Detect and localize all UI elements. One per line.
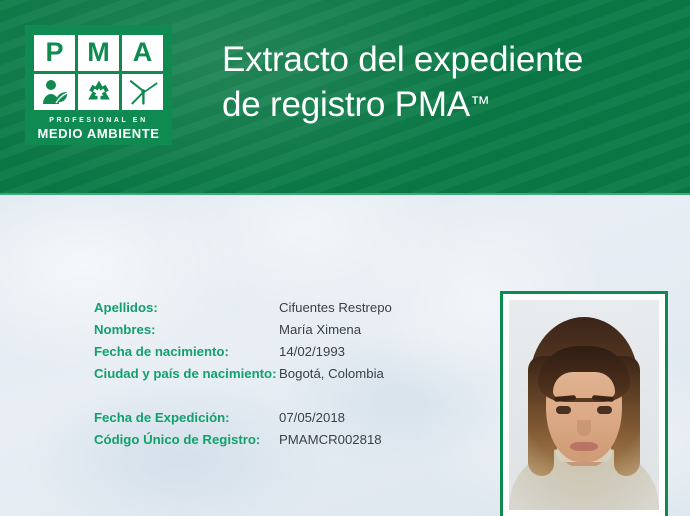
field-label-fecha-expedicion: Fecha de Expedición: [94,408,279,428]
logo-letter-p: P [34,35,75,71]
field-row-fecha-nacimiento: Fecha de nacimiento: 14/02/1993 [94,342,424,364]
logo-tile-grid: P M A [34,35,163,110]
page-title: Extracto del expediente de registro PMA™ [222,38,672,128]
field-row-apellidos: Apellidos: Cifuentes Restrepo [94,298,424,320]
portrait-hair-front [538,346,630,402]
header-banner: P M A [0,0,690,195]
logo-caption-top: PROFESIONAL EN [34,117,163,125]
pma-logo: P M A [25,25,172,145]
field-row-fecha-expedicion: Fecha de Expedición: 07/05/2018 [94,408,424,430]
page-title-line1: Extracto del expediente [222,40,583,79]
field-group-separator [94,386,424,408]
trademark-symbol: ™ [470,93,490,115]
field-row-ciudad-pais: Ciudad y país de nacimiento: Bogotá, Col… [94,364,424,386]
logo-caption: PROFESIONAL EN MEDIO AMBIENTE [34,117,163,143]
logo-letter-a: A [122,35,163,71]
portrait-photo [509,300,659,510]
portrait-eye-left [556,406,571,414]
field-value-apellidos: Cifuentes Restrepo [279,298,392,318]
field-label-apellidos: Apellidos: [94,298,279,318]
portrait-mouth [570,442,598,451]
field-label-nombres: Nombres: [94,320,279,340]
field-row-nombres: Nombres: María Ximena [94,320,424,342]
person-leaf-icon [34,74,75,110]
record-fields: Apellidos: Cifuentes Restrepo Nombres: M… [94,298,424,452]
logo-letter-m: M [78,35,119,71]
field-value-fecha-nacimiento: 14/02/1993 [279,342,345,362]
logo-caption-bottom: MEDIO AMBIENTE [34,126,163,143]
recycle-icon [78,74,119,110]
field-label-fecha-nacimiento: Fecha de nacimiento: [94,342,279,362]
field-value-fecha-expedicion: 07/05/2018 [279,408,345,428]
page-title-line2: de registro PMA [222,85,470,124]
wind-turbine-icon [122,74,163,110]
field-label-ciudad-pais: Ciudad y país de nacimiento: [94,364,279,384]
field-row-codigo-registro: Código Único de Registro: PMAMCR002818 [94,430,424,452]
registry-extract-card: P M A [0,0,690,516]
field-value-codigo-registro: PMAMCR002818 [279,430,382,450]
photo-frame [500,291,668,516]
portrait-nose [577,420,591,436]
portrait-eye-right [597,406,612,414]
field-value-nombres: María Ximena [279,320,361,340]
field-label-codigo-registro: Código Único de Registro: [94,430,279,450]
field-value-ciudad-pais: Bogotá, Colombia [279,364,384,384]
